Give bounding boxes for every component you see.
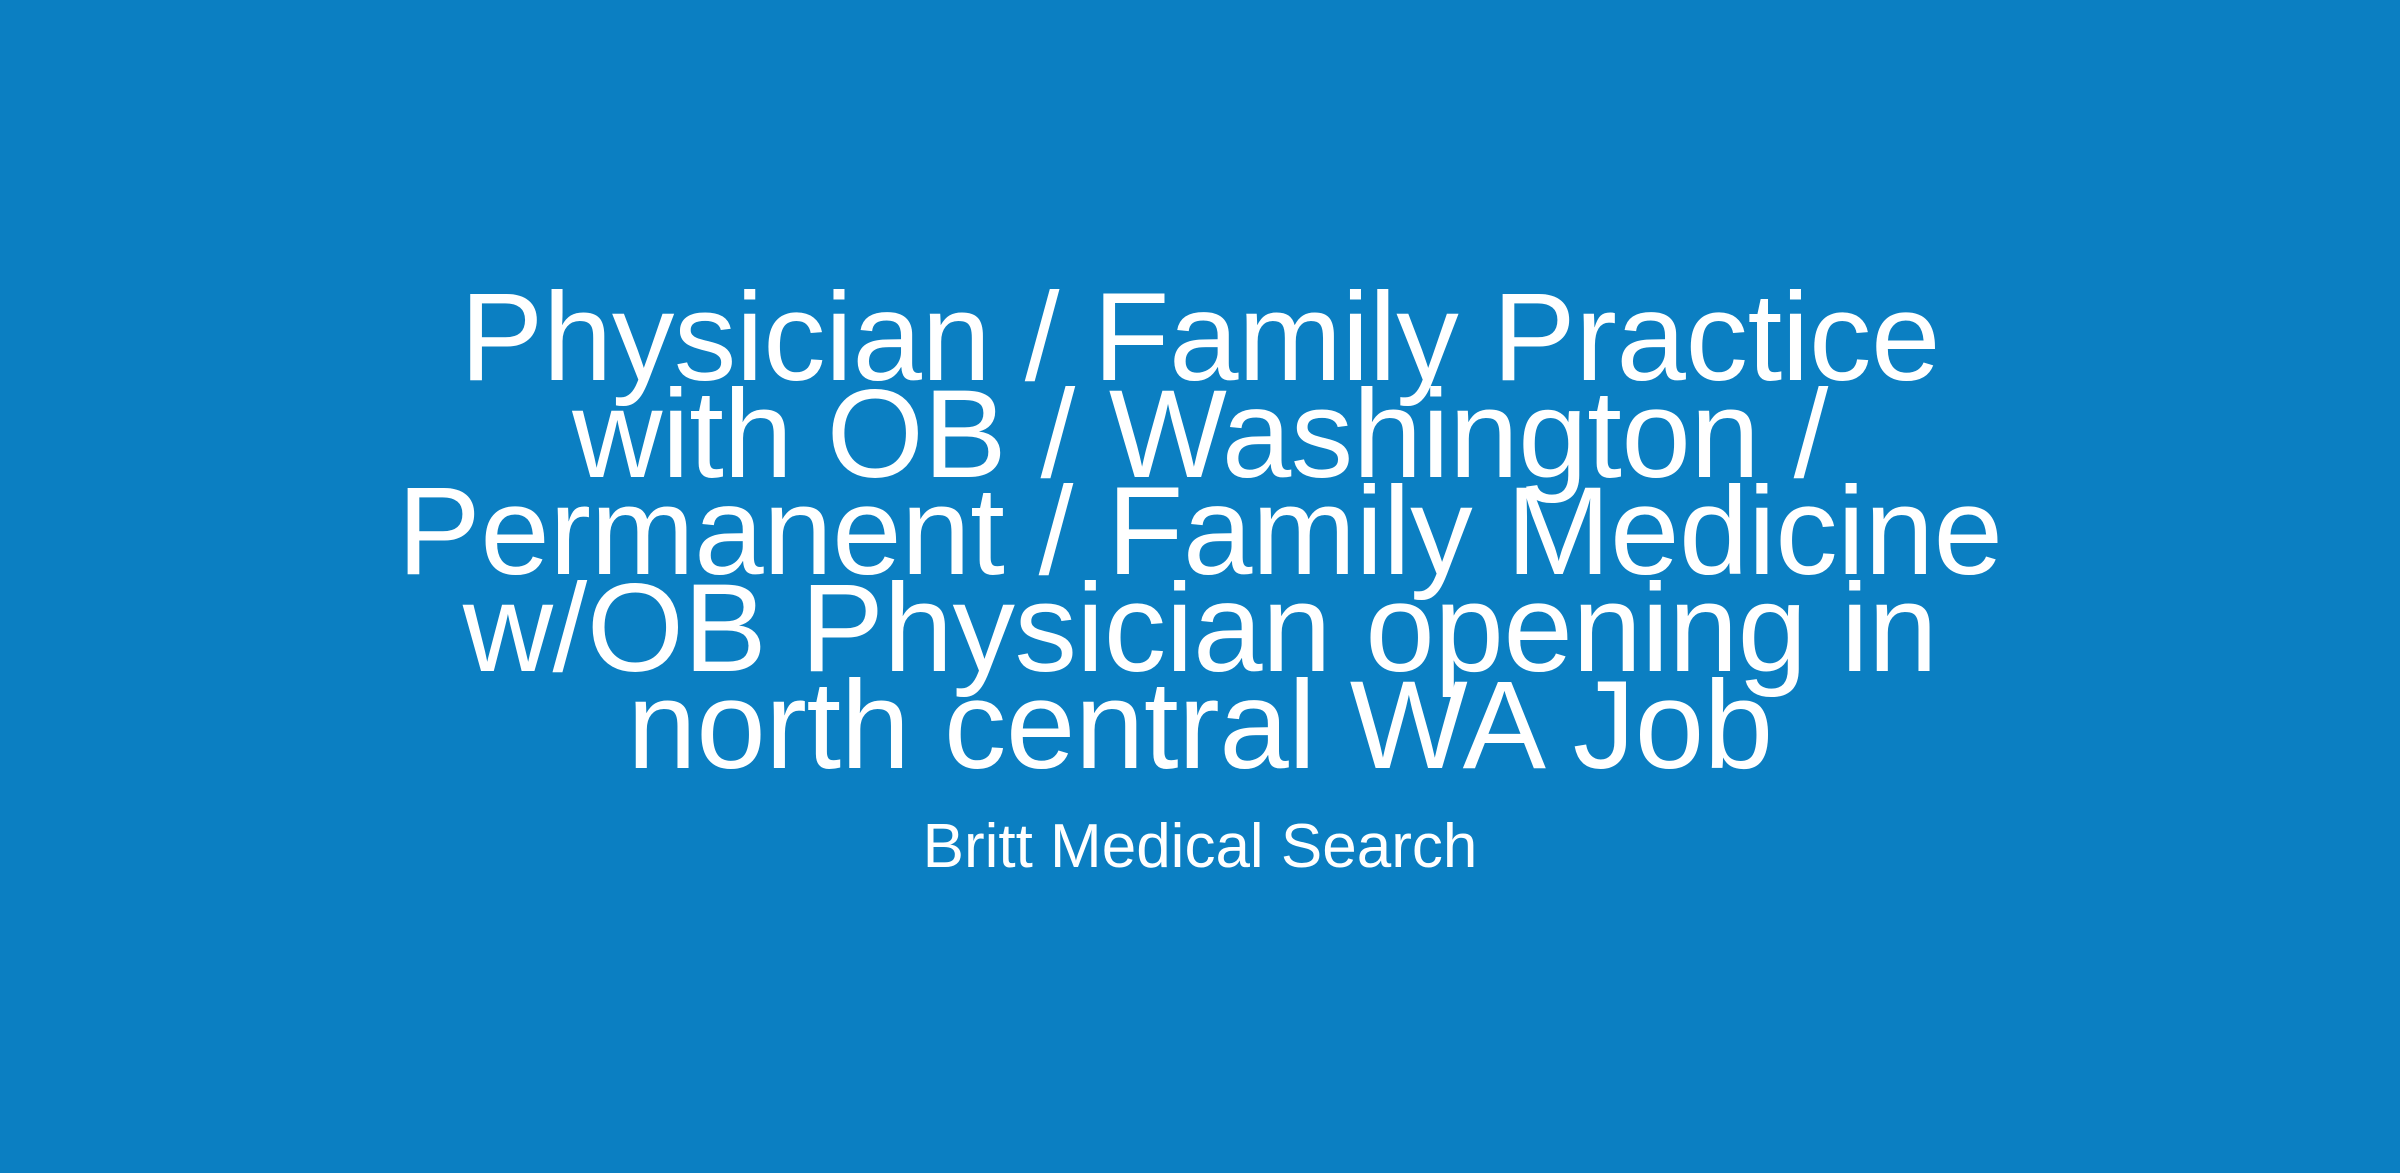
card-text-block: Physician / Family Practice with OB / Wa… <box>355 289 2045 884</box>
page-title: Physician / Family Practice with OB / Wa… <box>355 289 2045 774</box>
card-subtitle: Britt Medical Search <box>355 810 2045 884</box>
job-share-card: Physician / Family Practice with OB / Wa… <box>0 0 2400 1173</box>
